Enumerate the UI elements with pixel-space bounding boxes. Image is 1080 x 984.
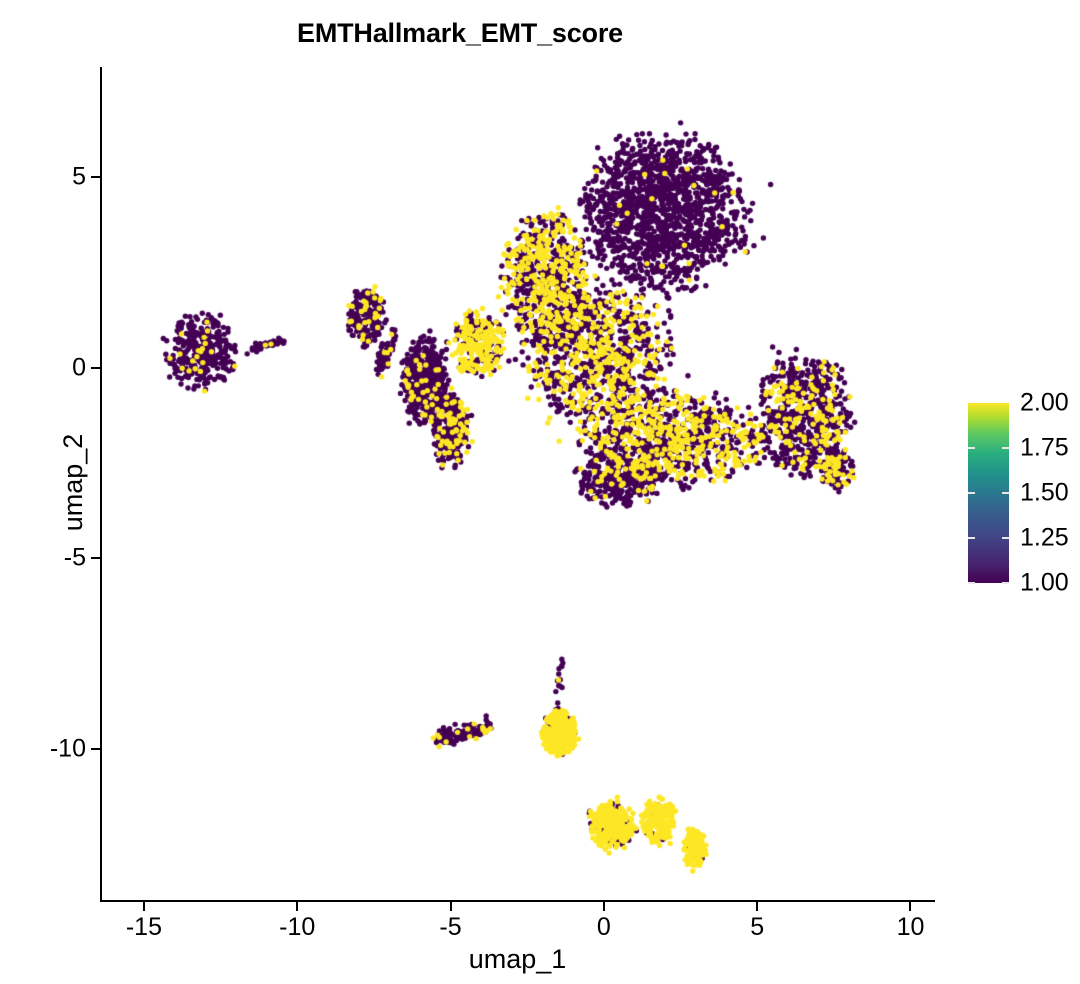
legend-tick-mark (968, 447, 975, 449)
x-tick-label: 5 (750, 913, 764, 942)
x-tick-mark (450, 902, 452, 911)
x-tick-label: 10 (897, 913, 925, 942)
y-tick-mark (91, 557, 100, 559)
legend-tick-mark (968, 492, 975, 494)
x-tick-label: 0 (597, 913, 611, 942)
color-legend: 2.001.751.501.251.00 (960, 390, 1080, 596)
legend-label-1-75: 1.75 (1020, 434, 1069, 463)
plot-panel (101, 67, 935, 901)
x-tick-mark (756, 902, 758, 911)
legend-tick-mark (968, 537, 975, 539)
umap-feature-plot: EMTHallmark_EMT_score -15-10-50510 50-5-… (0, 0, 1080, 984)
y-tick-mark (91, 176, 100, 178)
legend-label-1-00: 1.00 (1020, 569, 1069, 598)
y-axis-line (100, 67, 102, 902)
page-title: EMTHallmark_EMT_score (0, 18, 920, 49)
x-tick-mark (909, 902, 911, 911)
x-tick-mark (603, 902, 605, 911)
legend-label-2-00: 2.00 (1020, 389, 1069, 418)
legend-tick-mark (968, 582, 975, 584)
legend-tick-mark (1002, 447, 1009, 449)
legend-tick-mark (1002, 537, 1009, 539)
legend-label-1-50: 1.50 (1020, 479, 1069, 508)
scatter-points-layer (101, 67, 935, 901)
y-tick-mark (91, 748, 100, 750)
legend-tick-mark (1002, 582, 1009, 584)
x-tick-label: -5 (439, 913, 461, 942)
x-tick-label: -15 (126, 913, 162, 942)
x-axis-line (100, 900, 935, 902)
x-axis-title: umap_1 (100, 944, 935, 975)
x-tick-label: -10 (279, 913, 315, 942)
x-tick-mark (143, 902, 145, 911)
y-tick-mark (91, 367, 100, 369)
legend-tick-mark (1002, 492, 1009, 494)
x-tick-mark (296, 902, 298, 911)
legend-label-1-25: 1.25 (1020, 524, 1069, 553)
y-axis-title: umap_2 (58, 65, 89, 900)
